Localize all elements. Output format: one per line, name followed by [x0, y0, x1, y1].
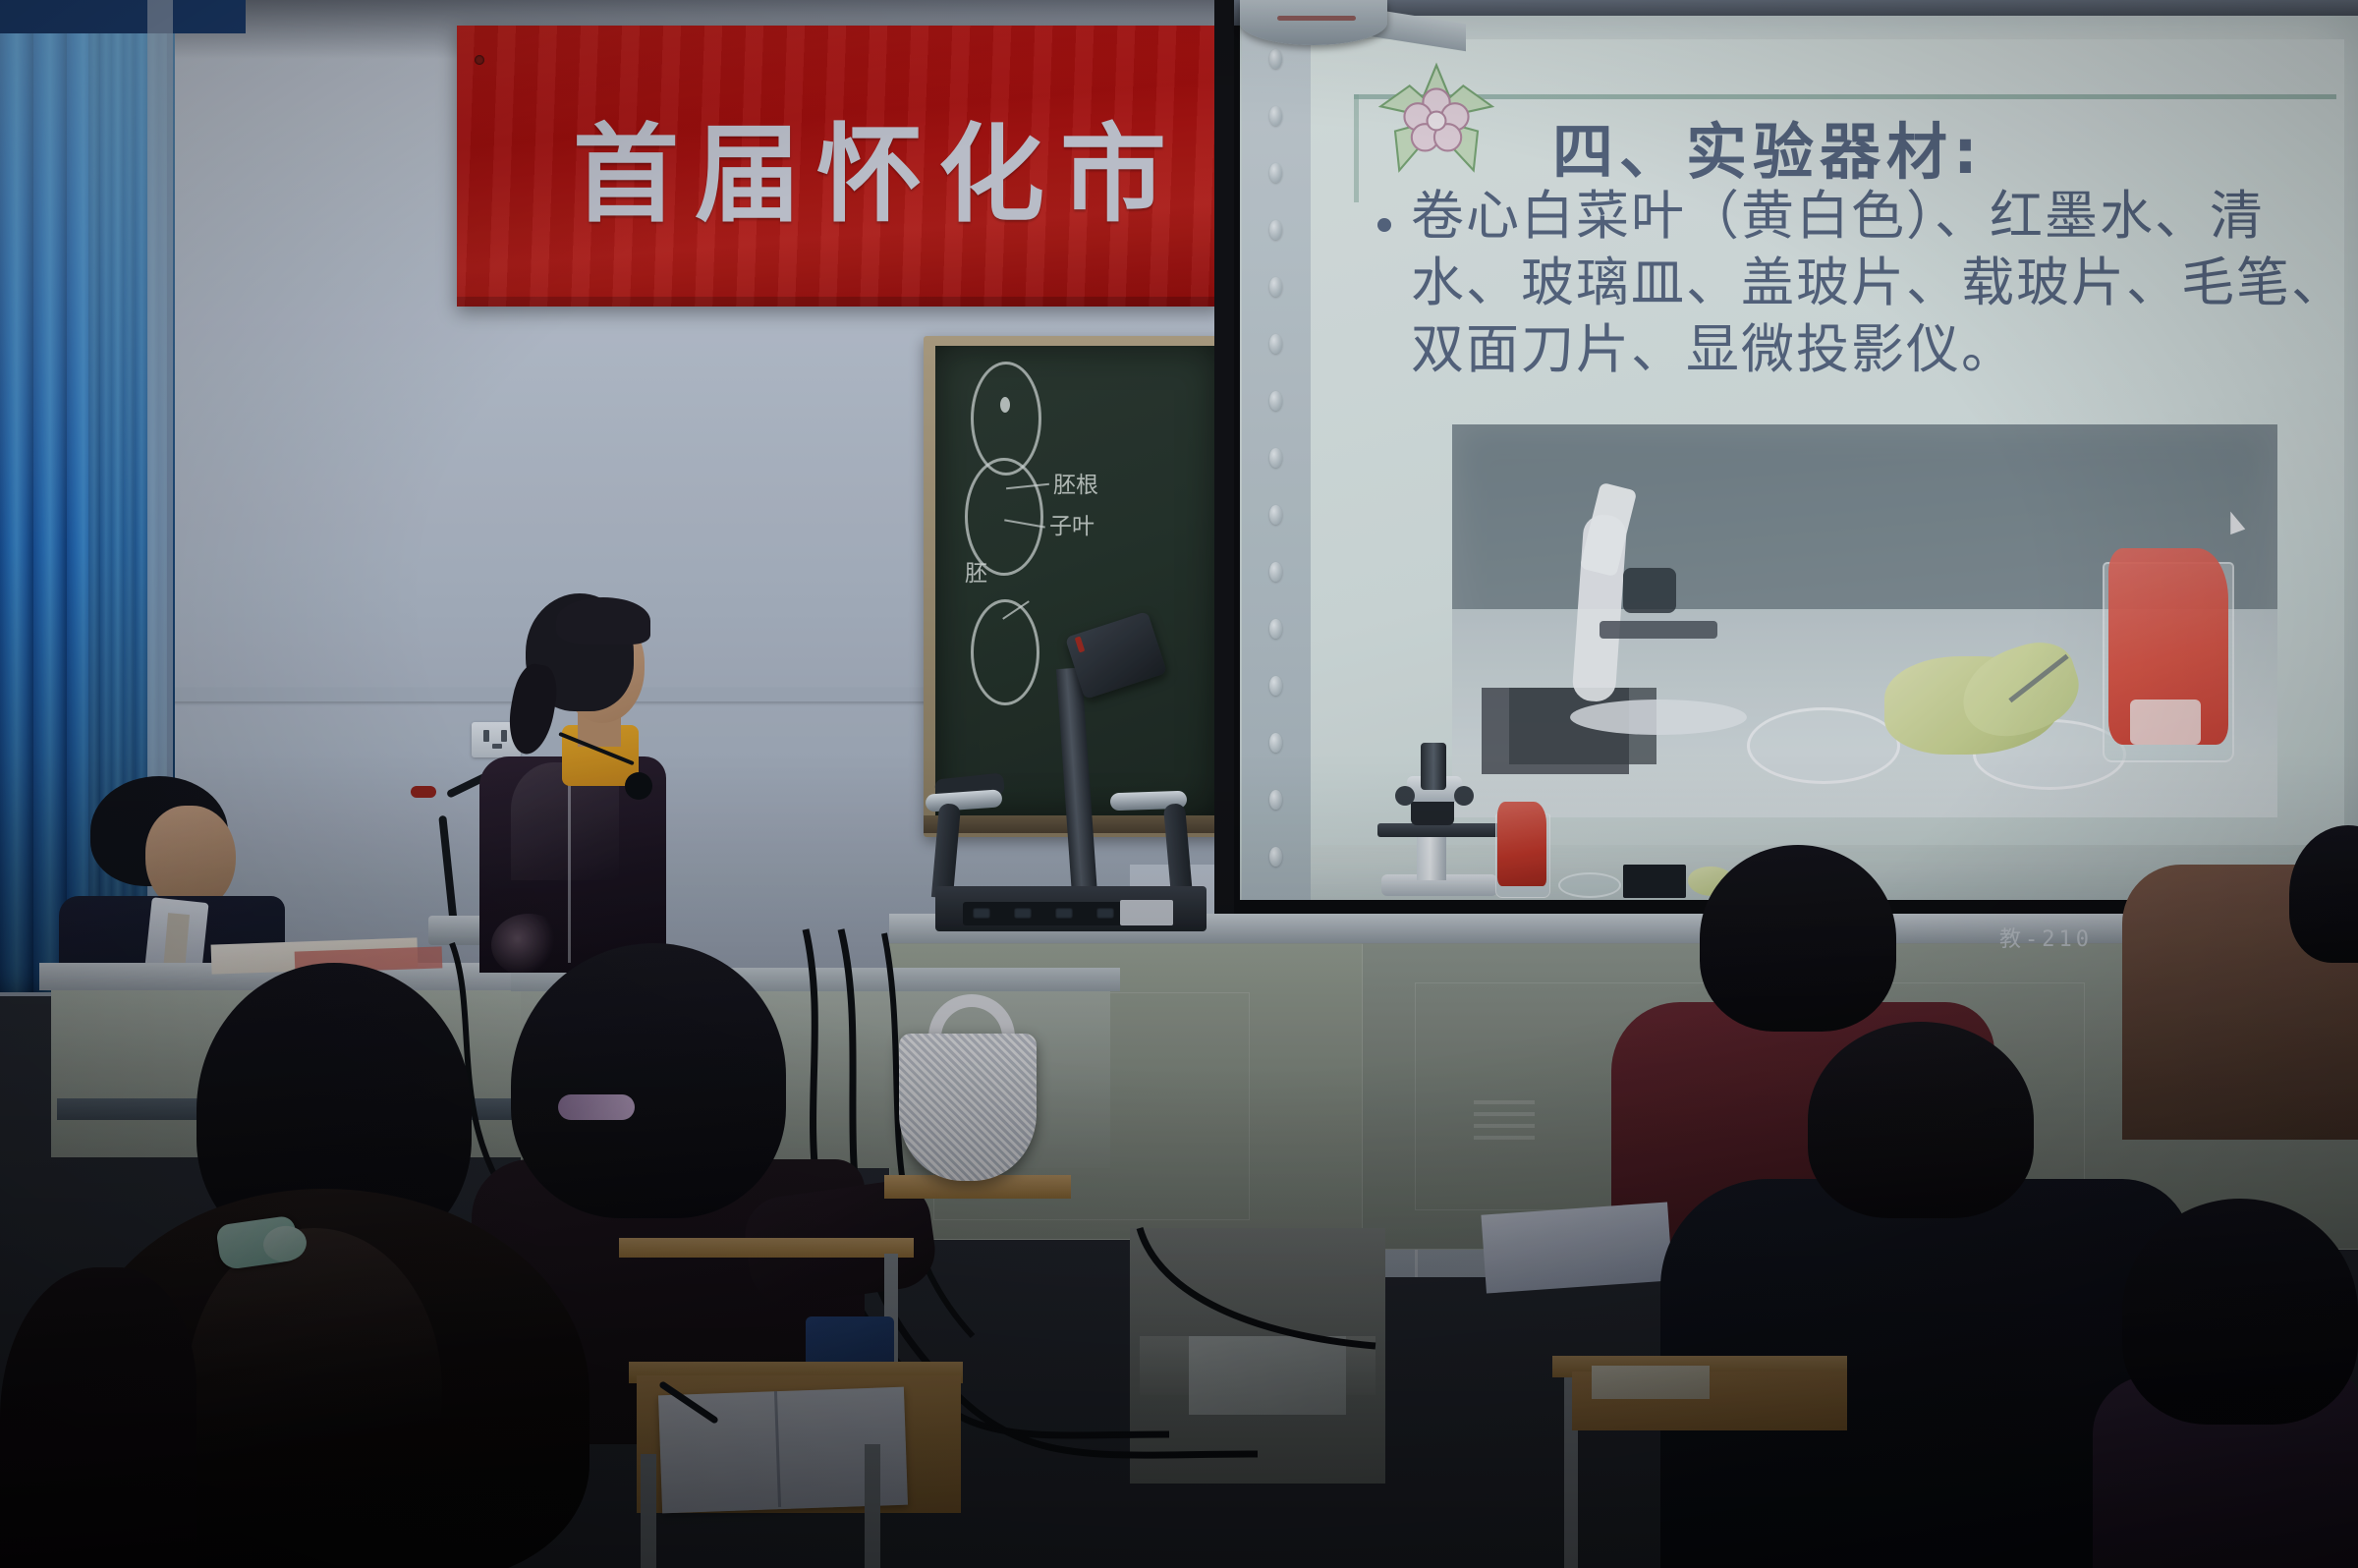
hair-clip-purple — [558, 1094, 635, 1120]
slide-title: 四、实验器材: — [1552, 102, 2240, 191]
red-stained-leaf-specimen — [1497, 802, 1546, 886]
black-box-on-bench — [1623, 865, 1686, 898]
slide-photo-microscope-stage — [1600, 621, 1717, 639]
student-woman-hair — [511, 943, 786, 1218]
banner-text: 首届怀化市 — [457, 26, 1223, 307]
slide-photo-petri-dish-1 — [1747, 707, 1900, 784]
microscope-focus-knob-right[interactable] — [1454, 786, 1474, 806]
slide-rule-top — [1354, 94, 2336, 99]
foreground-desk-1-leg-right — [865, 1444, 880, 1568]
gooseneck-mic-capsule — [411, 786, 436, 798]
foreground-student-hair-2 — [0, 1267, 196, 1568]
slide-photo-microscope-foot — [1570, 700, 1747, 735]
red-banner: 首届怀化市 — [457, 26, 1223, 307]
chalk-label-pigen: 胚根 — [1053, 466, 1098, 499]
curtain-rail — [0, 0, 246, 33]
slide-photo-microscope-nosepiece — [1623, 568, 1676, 613]
microscope-eyepiece-tube — [1421, 743, 1446, 790]
slide-body-text: 卷心白菜叶（黄白色）、红墨水、清水、玻璃皿、盖玻片、载玻片、毛笔、双面刀片、显微… — [1411, 183, 2354, 383]
beaded-handbag — [899, 1034, 1037, 1181]
chalk-label-pi: 胚 — [965, 554, 987, 588]
ceiling-lamp-icon — [1240, 0, 1387, 45]
doc-camera-label — [1120, 900, 1173, 925]
slide-rule-left — [1354, 94, 1359, 202]
microscope-focus-knob-left[interactable] — [1395, 786, 1415, 806]
audience-member-dark-jacket-hair — [1808, 1022, 2034, 1218]
slide-photo-leaf-white-base — [2130, 700, 2201, 745]
audience-member-right-front-hair — [2122, 1199, 2358, 1425]
banner-bottom-edge — [457, 297, 1223, 307]
ceiling-lamp-slot — [1277, 16, 1356, 21]
papers-right-desk-2 — [1592, 1366, 1710, 1399]
microscope-stage — [1377, 823, 1503, 837]
papers-right-desk — [1481, 1202, 1672, 1293]
screen-perforation-strip — [1242, 16, 1311, 900]
chalk-label-ziye: 子叶 — [1049, 507, 1095, 540]
foreground-student-hair-highlight — [187, 1228, 442, 1552]
slide-bullet-icon — [1377, 218, 1391, 232]
flower-decoration-icon — [1372, 59, 1501, 183]
headset-mic-capsule-icon — [625, 772, 652, 800]
screen-left-border — [1214, 0, 1234, 914]
foreground-desk-2-top — [619, 1238, 914, 1258]
audience-member-maroon-hair — [1700, 845, 1896, 1032]
teacher-fringe — [556, 597, 650, 644]
classroom-scene: 首届怀化市 胚根 子叶 胚 — [0, 0, 2358, 1568]
chalk-dot-1 — [1000, 397, 1010, 413]
foreground-desk-1-leg-left — [641, 1454, 656, 1568]
slide-photo — [1452, 424, 2277, 817]
petri-dish-on-bench — [1558, 872, 1621, 898]
